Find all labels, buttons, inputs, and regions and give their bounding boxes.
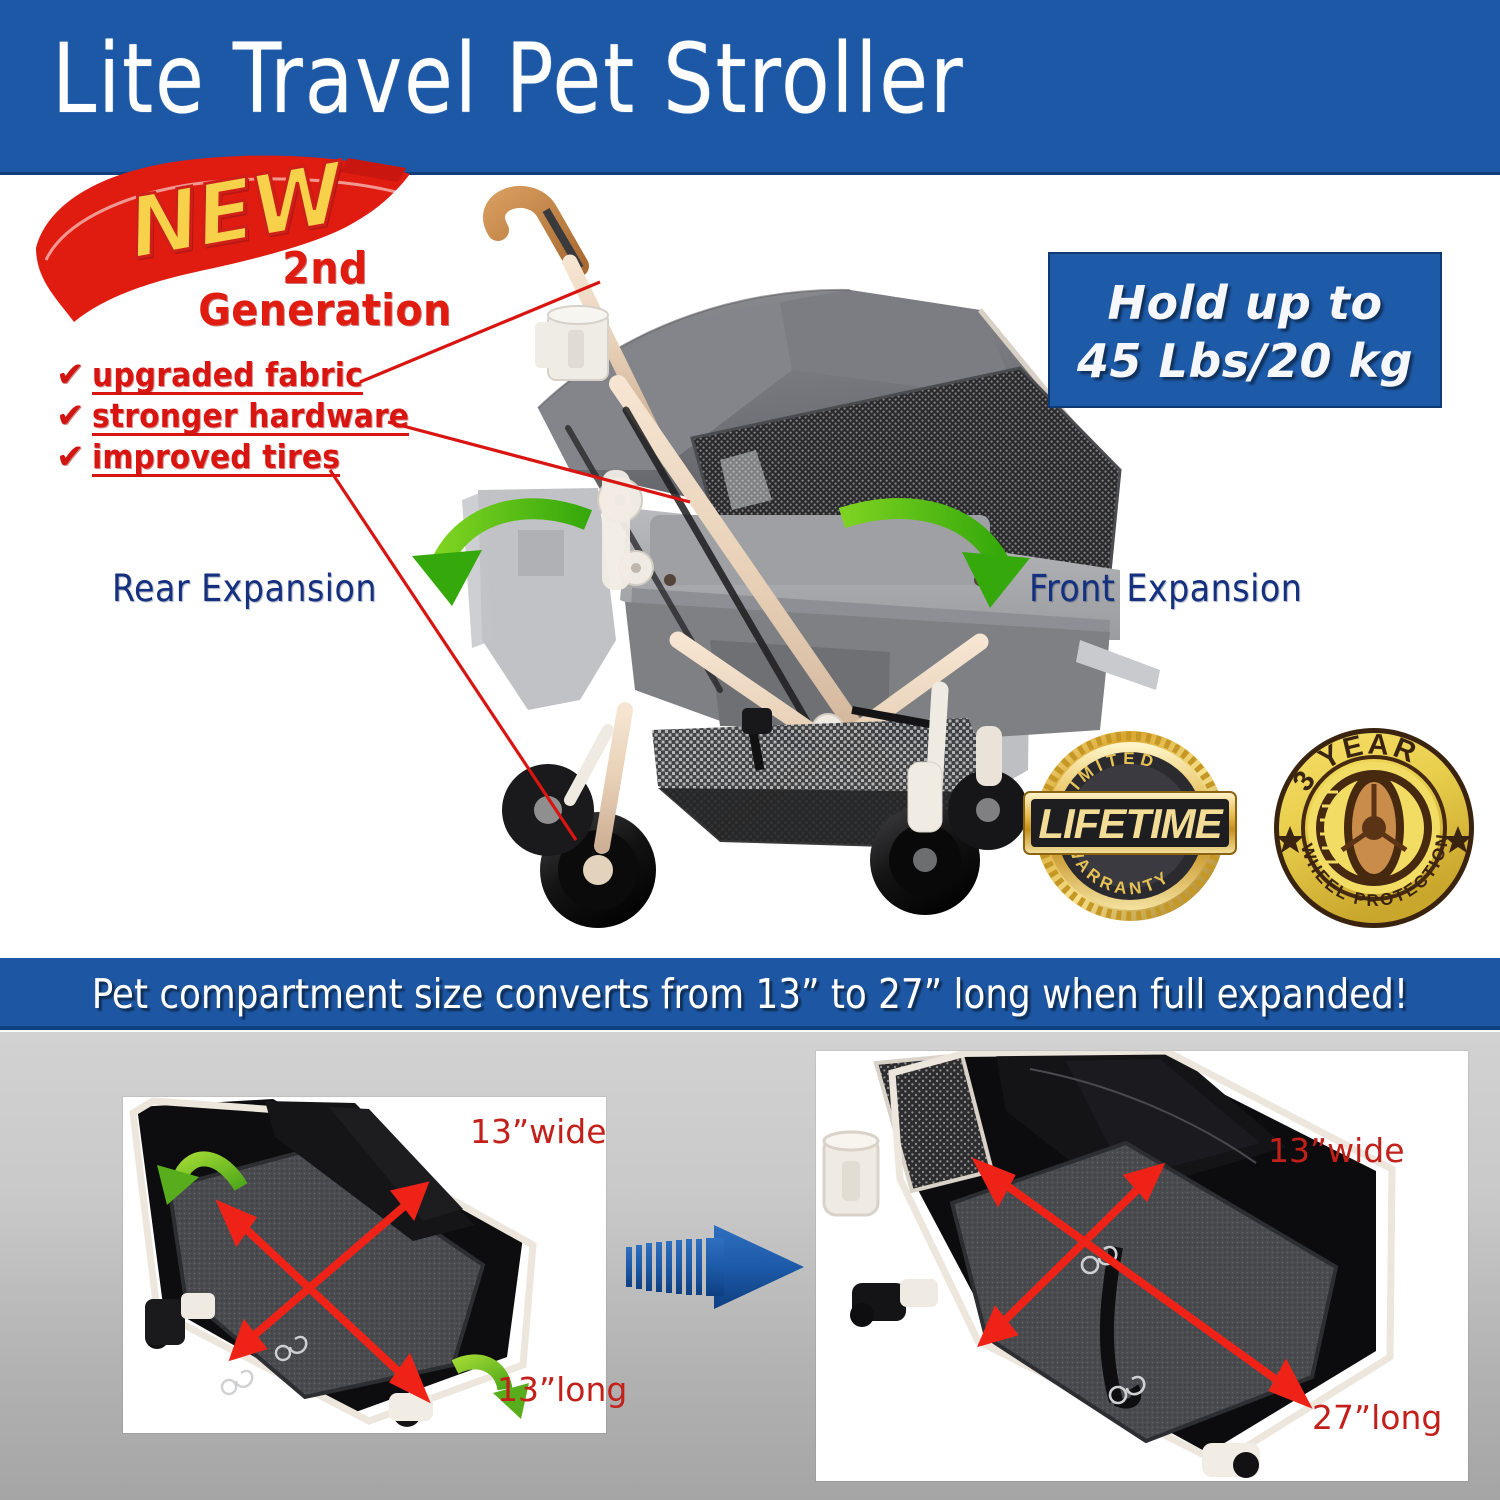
expansion-arrows — [390, 470, 1490, 750]
rear-expansion-arrow — [412, 509, 588, 606]
feature-item-upgraded-fabric: ✔ upgraded fabric — [56, 358, 426, 395]
feature-item-stronger-hardware: ✔ stronger hardware — [56, 399, 426, 436]
capacity-line-2: 45 Lbs/20 kg — [1050, 334, 1440, 388]
right-length-label: 27”long — [1312, 1398, 1442, 1437]
generation-line-1: 2nd — [185, 248, 465, 290]
conversion-banner: Pet compartment size converts from 13” t… — [0, 958, 1500, 1030]
right-width-label: 13”wide — [1268, 1131, 1405, 1170]
left-length-label: 13”long — [497, 1370, 627, 1409]
page-title: Lite Travel Pet Stroller — [52, 24, 964, 134]
feature-list: ✔ upgraded fabric ✔ stronger hardware ✔ … — [56, 358, 426, 481]
front-expansion-label: Front Expansion — [1029, 567, 1302, 610]
check-icon: ✔ — [56, 358, 92, 392]
tire-icon — [1316, 770, 1432, 886]
infographic-page: Lite Travel Pet Stroller — [0, 0, 1500, 1500]
rear-expansion-label: Rear Expansion — [112, 567, 377, 610]
three-year-wheel-protection-badge: 3 YEAR WHEEL PROTECTION — [1270, 722, 1480, 937]
transition-arrow — [620, 1219, 810, 1315]
capacity-callout-box: Hold up to 45 Lbs/20 kg — [1048, 252, 1442, 408]
left-width-label: 13”wide — [470, 1112, 607, 1151]
feature-item-improved-tires: ✔ improved tires — [56, 440, 426, 477]
feature-label: stronger hardware — [92, 399, 409, 436]
limited-lifetime-warranty-badge: LIMITED WARRANTY LIFETIME — [1020, 718, 1260, 933]
feature-label: upgraded fabric — [92, 358, 363, 395]
svg-text:LIFETIME: LIFETIME — [1038, 800, 1224, 847]
generation-line-2: Generation — [185, 290, 465, 332]
check-icon: ✔ — [56, 440, 92, 474]
check-icon: ✔ — [56, 399, 92, 433]
capacity-line-1: Hold up to — [1050, 276, 1440, 330]
cup-holder — [824, 1132, 878, 1215]
cup-holder — [535, 306, 608, 380]
generation-label: 2nd Generation — [185, 248, 465, 332]
conversion-banner-text: Pet compartment size converts from 13” t… — [23, 970, 1478, 1018]
front-expansion-arrow — [842, 508, 1030, 608]
warranty-badges: LIMITED WARRANTY LIFETIME — [1020, 718, 1470, 933]
feature-label: improved tires — [92, 440, 340, 477]
